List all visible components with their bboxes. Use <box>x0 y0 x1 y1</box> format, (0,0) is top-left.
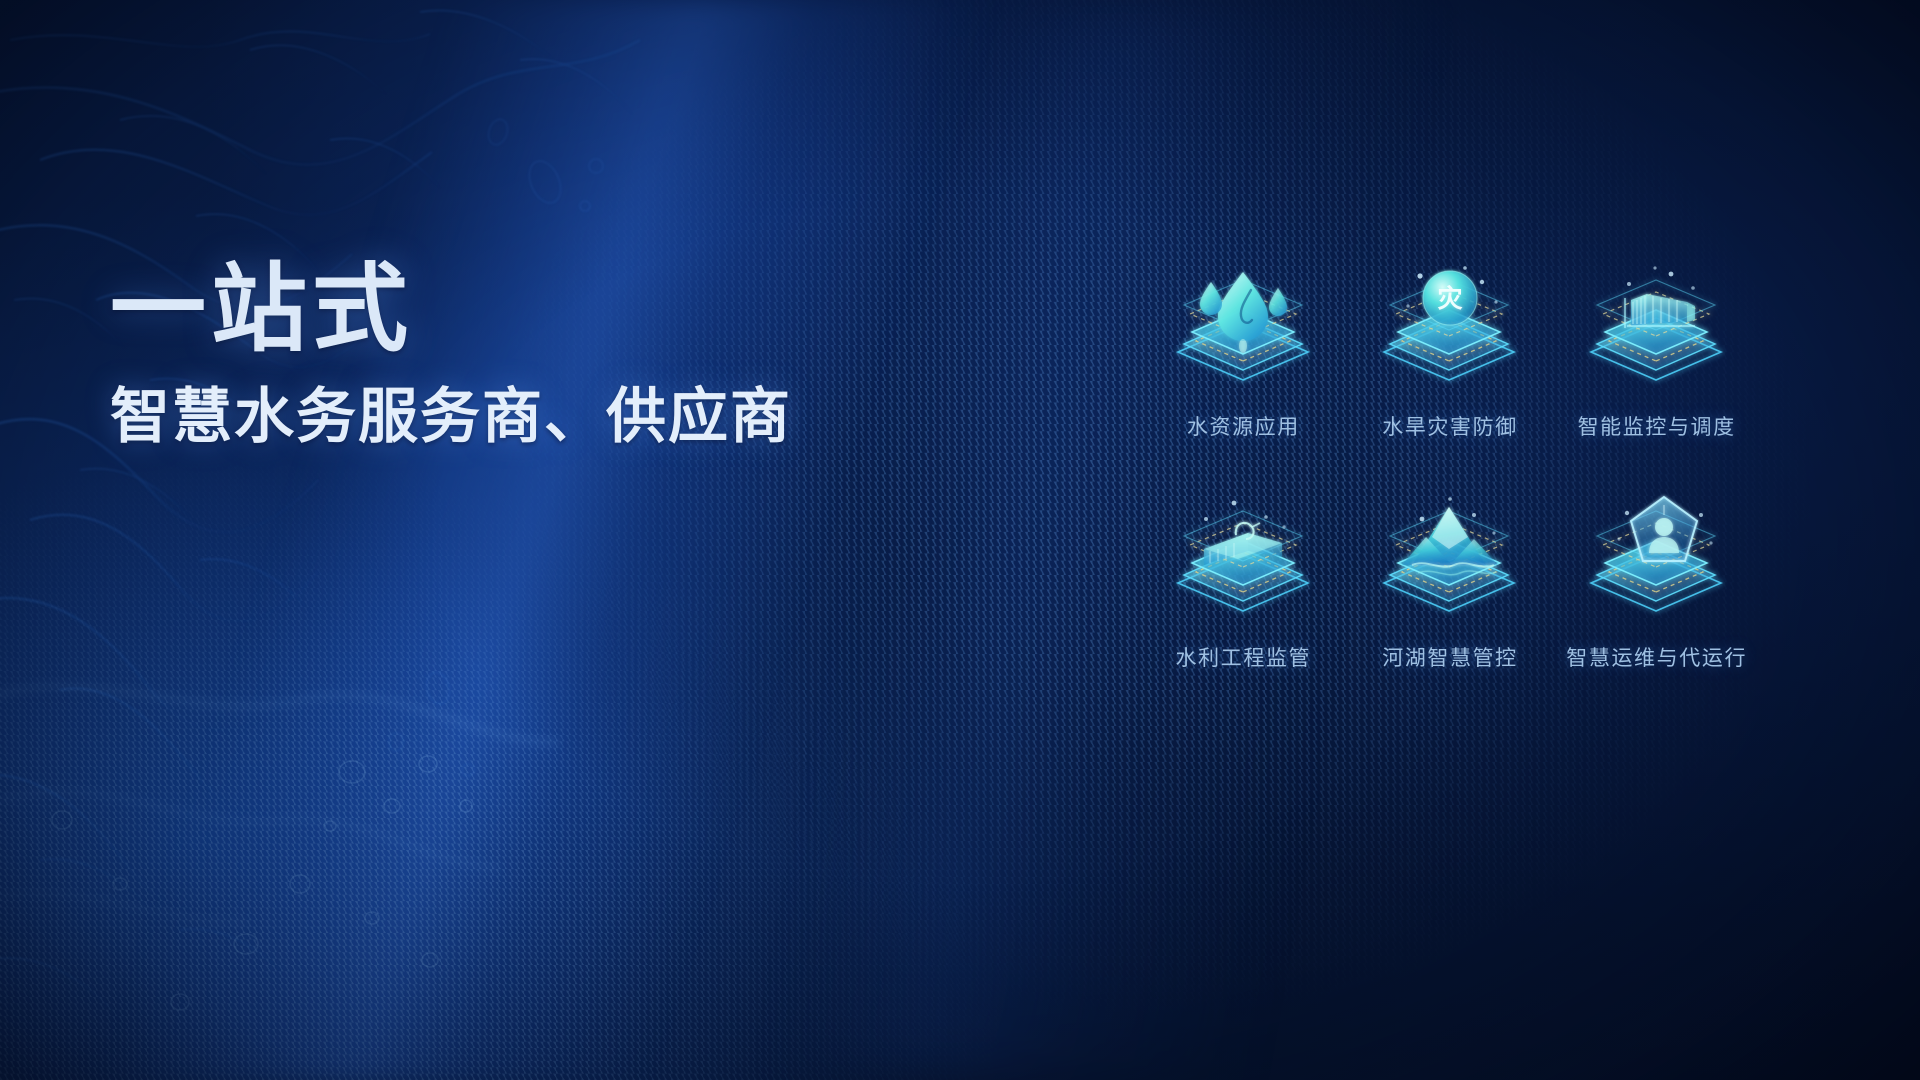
service-label: 水利工程监管 <box>1176 642 1312 672</box>
service-card-smart-operations[interactable]: 智慧运维与代运行 <box>1553 493 1760 672</box>
service-label: 水旱灾害防御 <box>1382 411 1518 441</box>
service-card-hydro-engineering[interactable]: 水利工程监管 <box>1140 493 1347 672</box>
service-label: 水资源应用 <box>1187 411 1300 441</box>
service-icon-grid: 水资源应用 灾 水旱灾害防御 <box>1140 262 1760 672</box>
hydro-engineering-platform-icon <box>1156 493 1331 638</box>
service-label: 智慧运维与代运行 <box>1566 642 1747 672</box>
svg-text:灾: 灾 <box>1438 284 1463 313</box>
dam-control-platform-icon <box>1569 262 1744 407</box>
headline-block: 一站式 智慧水务服务商、供应商 <box>110 258 930 452</box>
shield-operations-platform-icon <box>1569 493 1744 638</box>
slide-canvas: 一站式 智慧水务服务商、供应商 <box>0 0 1920 1080</box>
service-card-flood-drought[interactable]: 灾 水旱灾害防御 <box>1347 262 1554 441</box>
service-card-smart-monitoring[interactable]: 智能监控与调度 <box>1553 262 1760 441</box>
disaster-sphere-platform-icon: 灾 <box>1362 262 1537 407</box>
water-drop-platform-icon <box>1156 262 1331 407</box>
service-label: 河湖智慧管控 <box>1382 642 1518 672</box>
service-card-water-resource[interactable]: 水资源应用 <box>1140 262 1347 441</box>
page-subtitle: 智慧水务服务商、供应商 <box>110 382 930 453</box>
page-title: 一站式 <box>110 258 930 362</box>
service-card-river-lake[interactable]: 河湖智慧管控 <box>1347 493 1554 672</box>
river-lake-mountain-platform-icon <box>1362 493 1537 638</box>
service-label: 智能监控与调度 <box>1578 411 1736 441</box>
